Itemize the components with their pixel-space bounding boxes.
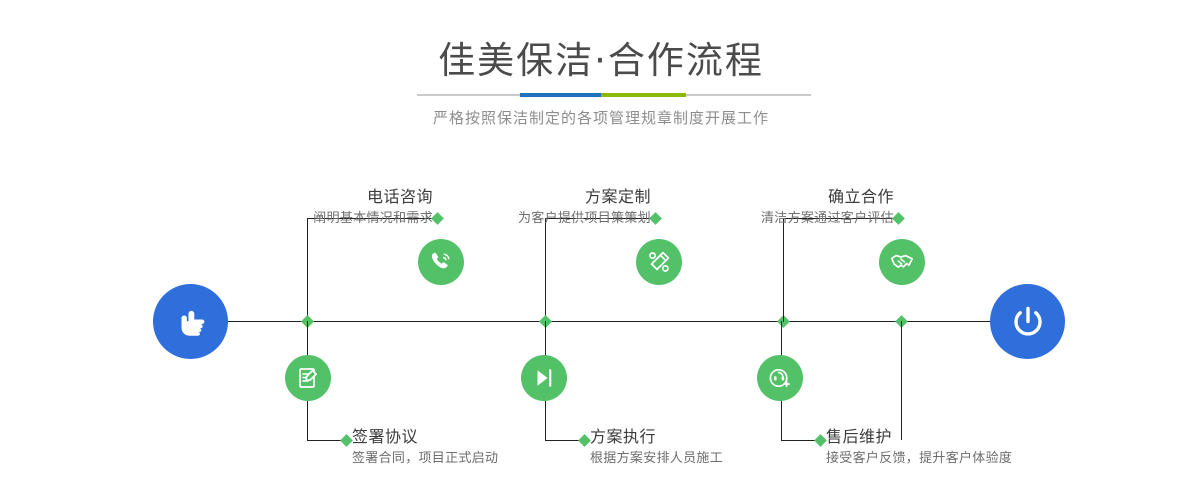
flow-infographic: 佳美保洁·合作流程 严格按照保洁制定的各项管理规章制度开展工作	[0, 0, 1202, 502]
step-6-icon-node	[757, 355, 803, 401]
step-3-stem	[545, 218, 546, 322]
step-6-label-marker	[814, 434, 827, 447]
step-5-stem	[783, 218, 784, 322]
step-1-stem	[307, 218, 308, 322]
step-1-title: 电话咨询	[138, 186, 433, 208]
step-4-icon-node	[521, 355, 567, 401]
pencil-ruler-icon	[646, 249, 672, 275]
handshake-icon	[889, 249, 915, 275]
step-5-label: 确立合作 清洁方案通过客户评估	[644, 186, 894, 229]
step-2-title: 签署协议	[352, 426, 498, 448]
step-5-title: 确立合作	[644, 186, 894, 208]
timeline-end-node	[990, 284, 1065, 359]
step-6-title: 售后维护	[826, 426, 1012, 448]
step-5-desc: 清洁方案通过客户评估	[644, 208, 894, 229]
document-edit-icon	[295, 365, 321, 391]
step-2-label: 签署协议 签署合同，项目正式启动	[352, 426, 498, 469]
step-4-label: 方案执行 根据方案安排人员施工	[590, 426, 723, 469]
step-2-label-marker	[340, 434, 353, 447]
pointing-hand-icon	[171, 302, 211, 342]
step-1-icon-node	[418, 239, 464, 285]
step-2-desc: 签署合同，项目正式启动	[352, 448, 498, 469]
step-4-desc: 根据方案安排人员施工	[590, 448, 723, 469]
step-4-title: 方案执行	[590, 426, 723, 448]
title-divider	[417, 94, 811, 96]
divider-green-segment	[601, 93, 686, 97]
step-3-desc: 为客户提供项目策策划	[400, 208, 651, 229]
divider-blue-segment	[520, 93, 601, 97]
step-5-icon-node	[879, 239, 925, 285]
step-6-stem	[901, 321, 902, 440]
step-1-label: 电话咨询 阐明基本情况和需求	[138, 186, 433, 229]
headset-support-icon	[767, 365, 793, 391]
step-1-desc: 阐明基本情况和需求	[138, 208, 433, 229]
step-6-label: 售后维护 接受客户反馈，提升客户体验度	[826, 426, 1012, 469]
step-6-desc: 接受客户反馈，提升客户体验度	[826, 448, 1012, 469]
step-3-icon-node	[636, 239, 682, 285]
page-subtitle: 严格按照保洁制定的各项管理规章制度开展工作	[0, 106, 1202, 130]
step-3-title: 方案定制	[400, 186, 651, 208]
step-3-label: 方案定制 为客户提供项目策策划	[400, 186, 651, 229]
phone-call-icon	[428, 249, 454, 275]
step-4-label-marker	[578, 434, 591, 447]
timeline-axis	[155, 321, 1047, 322]
play-execute-icon	[531, 365, 557, 391]
page-title: 佳美保洁·合作流程	[0, 38, 1202, 84]
timeline-start-node	[153, 284, 228, 359]
step-2-icon-node	[285, 355, 331, 401]
step-5-label-marker	[892, 212, 905, 225]
power-icon	[1007, 301, 1049, 343]
